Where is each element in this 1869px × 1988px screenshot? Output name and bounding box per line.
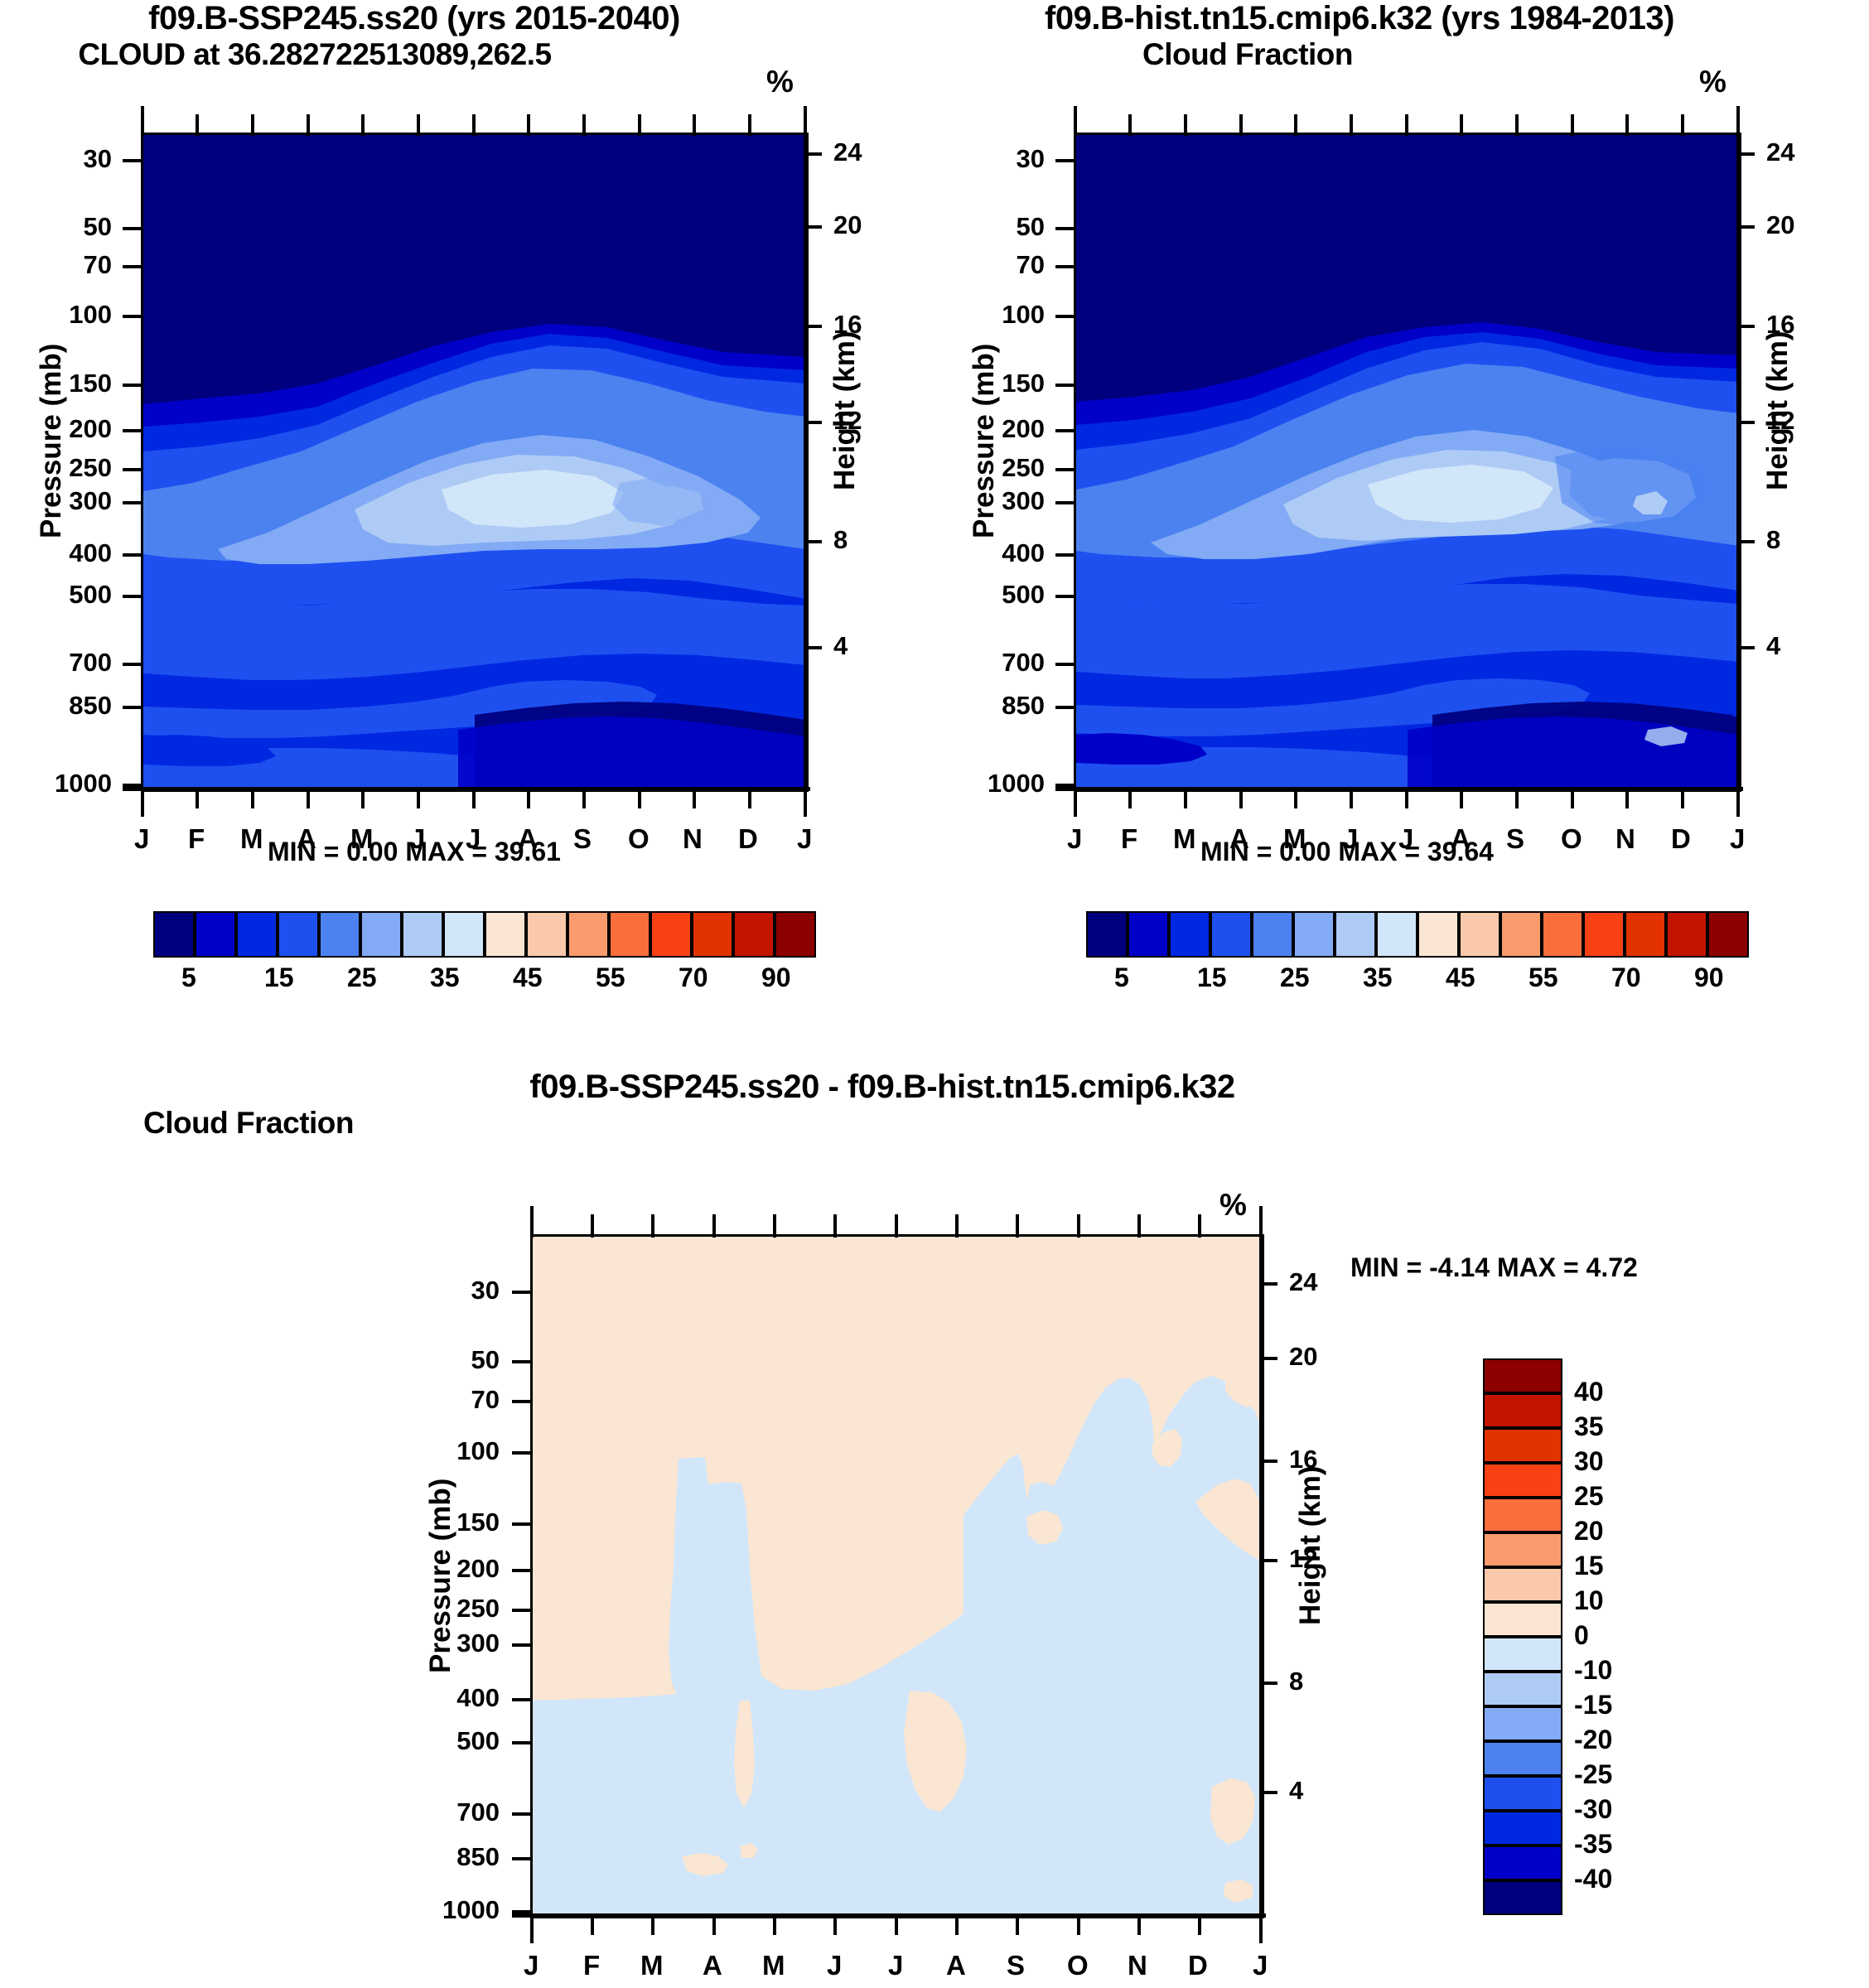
axis-tick <box>638 787 641 808</box>
y-tick <box>123 663 141 666</box>
colorbar-swatch <box>1459 911 1500 958</box>
colorbar-swatch <box>1583 911 1625 958</box>
colorbar-swatch <box>1483 1776 1562 1811</box>
y2-tick-label: 8 <box>833 525 848 555</box>
y-tick-label: 250 <box>69 453 112 483</box>
y2-tick <box>804 421 822 424</box>
left-minmax-label: MIN = 0.00 MAX = 39.61 <box>0 837 828 867</box>
colorbar-swatch <box>526 911 567 958</box>
y-tick-label: 100 <box>1002 300 1045 330</box>
y-tick-label: 30 <box>84 144 112 174</box>
y-tick <box>123 429 141 432</box>
axis-tick <box>1259 1913 1263 1943</box>
axis-tick <box>1074 787 1077 817</box>
y2-tick <box>1259 1791 1277 1794</box>
x-tick-label: O <box>1067 1950 1089 1981</box>
axis-tick <box>773 1214 776 1238</box>
y-tick-label: 200 <box>69 414 112 444</box>
colorbar-swatch <box>1707 911 1749 958</box>
y2-tick-label: 4 <box>1766 631 1780 661</box>
y-tick <box>123 468 141 471</box>
left-top-axis <box>141 101 807 134</box>
y-tick <box>123 501 141 504</box>
axis-tick <box>651 1214 654 1238</box>
colorbar-swatch <box>236 911 278 958</box>
y-tick <box>1055 429 1074 432</box>
right-colorbar-labels: 515253545557090 <box>1086 963 1749 999</box>
colorbar-label: 90 <box>761 963 791 993</box>
colorbar-swatch <box>1376 911 1417 958</box>
y-tick <box>512 1857 530 1860</box>
axis-tick <box>1681 787 1684 808</box>
y-tick <box>123 595 141 598</box>
axis-tick <box>141 787 144 817</box>
axis-tick <box>417 787 420 808</box>
y-tick <box>123 384 141 387</box>
y-tick-label: 150 <box>456 1508 500 1537</box>
axis-tick <box>141 106 144 136</box>
y2-tick <box>804 152 822 156</box>
diff-contour-svg <box>533 1237 1262 1916</box>
colorbar-label: -40 <box>1574 1864 1612 1894</box>
x-tick-label: N <box>1128 1950 1147 1981</box>
axis-tick <box>1625 114 1629 136</box>
diff-plot-area <box>530 1234 1264 1918</box>
colorbar-swatch <box>733 911 775 958</box>
colorbar-label: 35 <box>1574 1411 1604 1442</box>
y-tick <box>512 1291 530 1294</box>
y-tick-label: 850 <box>1002 691 1045 721</box>
diff-panel-subtitle: Cloud Fraction <box>0 1106 497 1141</box>
y2-tick <box>1736 152 1755 156</box>
y-tick-label: 500 <box>1002 580 1045 610</box>
y-tick <box>512 1360 530 1363</box>
colorbar-swatch <box>1483 1846 1562 1880</box>
axis-tick <box>773 1913 776 1935</box>
left-panel: f09.B-SSP245.ss20 (yrs 2015-2040) CLOUD … <box>0 0 828 1011</box>
y2-tick-label: 4 <box>1289 1776 1303 1806</box>
axis-tick <box>955 1214 959 1238</box>
diff-colorbar <box>1483 1358 1562 1915</box>
y-tick <box>512 1741 530 1744</box>
axis-tick <box>651 1913 654 1935</box>
colorbar-label: -15 <box>1574 1690 1612 1720</box>
y2-tick <box>1259 1682 1277 1685</box>
y2-tick-label: 24 <box>1289 1267 1317 1297</box>
y-tick <box>1055 501 1074 504</box>
y-tick-label: 850 <box>456 1842 500 1872</box>
y-tick <box>512 1643 530 1647</box>
colorbar-swatch <box>153 911 195 958</box>
right-colorbar <box>1086 911 1749 958</box>
axis-tick <box>693 114 696 136</box>
left-y-axis-title: Pressure (mb) <box>35 344 68 538</box>
colorbar-swatch <box>1169 911 1210 958</box>
axis-tick <box>1736 787 1740 817</box>
axis-tick <box>527 787 530 808</box>
axis-tick <box>307 114 310 136</box>
axis-tick <box>196 114 199 136</box>
axis-tick <box>955 1913 959 1935</box>
axis-tick <box>895 1913 898 1935</box>
axis-tick <box>361 114 365 136</box>
axis-tick <box>1460 787 1463 808</box>
y-tick-label: 700 <box>456 1797 500 1827</box>
colorbar-label: 55 <box>1529 963 1558 993</box>
colorbar-swatch <box>1483 1428 1562 1463</box>
y-tick-label: 400 <box>456 1683 500 1713</box>
y2-tick <box>1736 540 1755 543</box>
y2-tick <box>1259 1559 1277 1562</box>
x-axis-line <box>123 787 810 791</box>
y-tick-label: 400 <box>69 538 112 568</box>
x-tick-label: S <box>1007 1950 1025 1981</box>
colorbar-label: 40 <box>1574 1377 1604 1407</box>
axis-tick <box>895 1214 898 1238</box>
axis-tick <box>1198 1214 1201 1238</box>
y-tick-label: 70 <box>471 1385 500 1415</box>
colorbar-swatch <box>1483 1880 1562 1915</box>
x-tick-label: D <box>1188 1950 1208 1981</box>
axis-tick <box>307 787 310 808</box>
colorbar-swatch <box>1086 911 1128 958</box>
axis-tick <box>1515 787 1519 808</box>
colorbar-label: -10 <box>1574 1655 1612 1686</box>
colorbar-swatch <box>1483 1706 1562 1741</box>
colorbar-swatch <box>1252 911 1293 958</box>
left-panel-subtitle: CLOUD at 36.282722513089,262.5 <box>0 37 630 72</box>
colorbar-label: -30 <box>1574 1794 1612 1825</box>
colorbar-swatch <box>402 911 443 958</box>
y-tick-label: 30 <box>1017 144 1045 174</box>
colorbar-label: 25 <box>347 963 377 993</box>
right-y2-axis-title: Height (km) <box>1761 331 1794 491</box>
axis-tick <box>1736 106 1740 136</box>
y2-tick <box>1259 1460 1277 1463</box>
axis-tick <box>748 114 751 136</box>
colorbar-swatch <box>195 911 236 958</box>
axis-tick <box>1077 1913 1080 1935</box>
y2-tick-label: 20 <box>1766 210 1794 240</box>
axis-tick <box>1016 1214 1019 1238</box>
diff-panel-title: f09.B-SSP245.ss20 - f09.B-hist.tn15.cmip… <box>0 1069 1765 1106</box>
colorbar-swatch <box>360 911 402 958</box>
y2-tick-label: 4 <box>833 631 848 661</box>
x-tick-label: A <box>946 1950 966 1981</box>
colorbar-swatch <box>485 911 526 958</box>
axis-tick <box>1239 787 1243 808</box>
axis-tick <box>712 1913 716 1935</box>
colorbar-swatch <box>1542 911 1583 958</box>
axis-tick <box>591 1214 594 1238</box>
y-tick-label: 150 <box>69 369 112 398</box>
y2-tick <box>804 540 822 543</box>
colorbar-label: 70 <box>679 963 708 993</box>
x-tick-label: J <box>827 1950 842 1981</box>
colorbar-swatch <box>775 911 816 958</box>
axis-tick <box>1077 1214 1080 1238</box>
y-tick <box>1055 159 1074 162</box>
axis-tick <box>530 1206 534 1238</box>
colorbar-label: -35 <box>1574 1829 1612 1860</box>
y2-tick <box>1259 1282 1277 1286</box>
x-tick-label: J <box>888 1950 903 1981</box>
axis-tick <box>251 787 254 808</box>
x-tick-label: F <box>583 1950 600 1981</box>
y-tick <box>123 227 141 230</box>
y-tick <box>512 1609 530 1612</box>
axis-tick <box>1184 114 1187 136</box>
y-tick <box>512 1451 530 1455</box>
colorbar-swatch <box>1483 1463 1562 1498</box>
left-plot-area <box>141 133 809 792</box>
axis-tick <box>712 1214 716 1238</box>
y-tick-label: 200 <box>456 1554 500 1584</box>
diff-panel: f09.B-SSP245.ss20 - f09.B-hist.tn15.cmip… <box>0 1069 1869 1953</box>
y-tick <box>1055 553 1074 557</box>
y-tick-label: 500 <box>456 1726 500 1756</box>
y2-tick-label: 20 <box>833 210 862 240</box>
axis-tick <box>1515 114 1519 136</box>
left-contour-svg <box>143 135 806 789</box>
colorbar-swatch <box>1483 1532 1562 1567</box>
axis-tick <box>1571 114 1574 136</box>
axis-tick <box>1405 787 1408 808</box>
y-tick-label: 30 <box>471 1276 500 1305</box>
colorbar-swatch <box>1483 1637 1562 1672</box>
axis-tick <box>1294 787 1297 808</box>
colorbar-swatch <box>1483 1498 1562 1532</box>
diff-y-axis: 30 50 70 100 150 200 250 300 400 500 700… <box>389 1234 534 1913</box>
left-y-axis: 30 50 70 100 150 200 250 300 400 500 700… <box>0 133 145 787</box>
colorbar-swatch <box>1483 1567 1562 1602</box>
colorbar-label: 25 <box>1574 1481 1604 1512</box>
axis-tick <box>1571 787 1574 808</box>
y2-tick <box>1259 1357 1277 1360</box>
colorbar-label: 15 <box>264 963 294 993</box>
y-tick <box>1055 315 1074 318</box>
right-panel-title: f09.B-hist.tn15.cmip6.k32 (yrs 1984-2013… <box>933 0 1786 37</box>
y2-tick-label: 8 <box>1766 525 1780 555</box>
axis-tick <box>1184 787 1187 808</box>
right-plot-area <box>1074 133 1741 792</box>
y-tick <box>512 1698 530 1701</box>
x-tick-label: J <box>524 1950 538 1981</box>
axis-tick <box>1625 787 1629 808</box>
colorbar-label: 70 <box>1611 963 1641 993</box>
y-tick <box>123 553 141 557</box>
y-tick-label: 150 <box>1002 369 1045 398</box>
colorbar-swatch <box>1293 911 1335 958</box>
left-colorbar-labels: 515253545557090 <box>153 963 816 999</box>
right-y-axis-title: Pressure (mb) <box>968 344 1001 538</box>
y-tick-label: 300 <box>456 1629 500 1658</box>
y-tick-label: 200 <box>1002 414 1045 444</box>
x-tick-label: A <box>703 1950 722 1981</box>
right-minmax-label: MIN = 0.00 MAX = 39.64 <box>933 837 1761 867</box>
y-tick-label: 50 <box>1017 212 1045 242</box>
right-panel: f09.B-hist.tn15.cmip6.k32 (yrs 1984-2013… <box>933 0 1761 1011</box>
y2-tick-label: 24 <box>833 138 862 167</box>
axis-tick <box>251 114 254 136</box>
axis-tick <box>1350 114 1353 136</box>
colorbar-label: 35 <box>430 963 460 993</box>
colorbar-label: 25 <box>1280 963 1310 993</box>
colorbar-label: 0 <box>1574 1620 1589 1651</box>
axis-tick <box>1074 106 1077 136</box>
left-panel-unit: % <box>766 65 794 99</box>
y2-tick <box>804 646 822 649</box>
y-tick <box>512 1400 530 1403</box>
axis-tick <box>472 114 476 136</box>
y-tick-label: 50 <box>84 212 112 242</box>
y-tick-label: 100 <box>69 300 112 330</box>
y-tick-label: 850 <box>69 691 112 721</box>
y2-tick-label: 20 <box>1289 1342 1317 1372</box>
colorbar-swatch <box>567 911 609 958</box>
axis-tick <box>582 787 586 808</box>
y2-tick <box>1736 225 1755 229</box>
right-top-axis <box>1074 101 1740 134</box>
diff-y-axis-title: Pressure (mb) <box>424 1479 457 1673</box>
colorbar-swatch <box>609 911 650 958</box>
y-tick-label: 50 <box>471 1345 500 1375</box>
axis-tick <box>693 787 696 808</box>
diff-colorbar-labels: 403530252015100-10-15-20-25-30-35-40 <box>1574 1358 1682 1915</box>
colorbar-label: -20 <box>1574 1725 1612 1755</box>
y-tick <box>512 1569 530 1572</box>
colorbar-label: 45 <box>1446 963 1475 993</box>
colorbar-label: 35 <box>1363 963 1393 993</box>
x-axis-line <box>1055 787 1743 791</box>
axis-tick <box>804 106 807 136</box>
colorbar-label: 30 <box>1574 1446 1604 1477</box>
colorbar-label: -25 <box>1574 1759 1612 1790</box>
colorbar-label: 10 <box>1574 1585 1604 1616</box>
colorbar-label: 5 <box>181 963 196 993</box>
axis-tick <box>1137 1913 1141 1935</box>
axis-tick <box>804 787 807 817</box>
y2-tick <box>1736 646 1755 649</box>
y2-tick <box>1736 421 1755 424</box>
y2-tick-label: 24 <box>1766 138 1794 167</box>
y-tick <box>1055 227 1074 230</box>
diff-x-axis: J F M A M J J A S O N D J <box>530 1913 1263 1988</box>
y-tick <box>1055 265 1074 268</box>
colorbar-label: 55 <box>596 963 625 993</box>
axis-tick <box>196 787 199 808</box>
y-tick <box>123 265 141 268</box>
colorbar-swatch <box>1625 911 1666 958</box>
axis-tick <box>1137 1214 1141 1238</box>
colorbar-label: 45 <box>513 963 543 993</box>
y-tick <box>512 1522 530 1526</box>
colorbar-swatch <box>1210 911 1252 958</box>
colorbar-swatch <box>1128 911 1169 958</box>
right-contour-svg <box>1076 135 1739 789</box>
y-tick-label: 250 <box>456 1594 500 1624</box>
y-tick <box>1055 595 1074 598</box>
y-tick-label: 300 <box>69 486 112 516</box>
axis-tick <box>527 114 530 136</box>
diff-minmax-label: MIN = -4.14 MAX = 4.72 <box>1350 1252 1638 1283</box>
colorbar-swatch <box>650 911 692 958</box>
axis-tick <box>1128 114 1132 136</box>
y2-tick <box>804 325 822 328</box>
colorbar-label: 90 <box>1694 963 1724 993</box>
diff-top-axis <box>530 1203 1263 1236</box>
y-tick-label: 400 <box>1002 538 1045 568</box>
x-axis-line <box>512 1913 1266 1918</box>
colorbar-swatch <box>443 911 485 958</box>
colorbar-swatch <box>1666 911 1707 958</box>
x-tick-label: J <box>1253 1950 1268 1981</box>
axis-tick <box>1198 1913 1201 1935</box>
axis-tick <box>591 1913 594 1935</box>
x-tick-label: M <box>762 1950 785 1981</box>
axis-tick <box>1259 1206 1263 1238</box>
axis-tick <box>582 114 586 136</box>
colorbar-label: 15 <box>1574 1551 1604 1581</box>
axis-tick <box>1681 114 1684 136</box>
y-tick-label: 500 <box>69 580 112 610</box>
axis-tick <box>1460 114 1463 136</box>
y2-tick <box>804 225 822 229</box>
axis-tick <box>472 787 476 808</box>
colorbar-swatch <box>1335 911 1376 958</box>
left-y2-axis-title: Height (km) <box>828 331 862 491</box>
y-tick-label: 100 <box>456 1436 500 1466</box>
y-tick-label: 70 <box>1017 250 1045 280</box>
y-tick <box>512 1812 530 1816</box>
y-tick-label: 700 <box>1002 648 1045 678</box>
colorbar-swatch <box>1483 1358 1562 1393</box>
y-tick-label: 70 <box>84 250 112 280</box>
axis-tick <box>1405 114 1408 136</box>
colorbar-label: 5 <box>1114 963 1129 993</box>
y-tick <box>1055 706 1074 709</box>
colorbar-label: 20 <box>1574 1516 1604 1546</box>
y-tick <box>1055 663 1074 666</box>
colorbar-swatch <box>692 911 733 958</box>
axis-tick <box>530 1913 534 1943</box>
left-panel-title: f09.B-SSP245.ss20 (yrs 2015-2040) <box>0 0 828 37</box>
colorbar-swatch <box>1483 1393 1562 1428</box>
left-colorbar <box>153 911 816 958</box>
axis-tick <box>361 787 365 808</box>
y2-tick <box>1736 325 1755 328</box>
y-tick <box>123 706 141 709</box>
y-tick <box>123 315 141 318</box>
y-tick-label: 1000 <box>55 769 112 799</box>
colorbar-swatch <box>1483 1811 1562 1846</box>
axis-tick <box>748 787 751 808</box>
colorbar-swatch <box>1483 1741 1562 1776</box>
y-tick-label: 1000 <box>988 769 1045 799</box>
axis-tick <box>417 114 420 136</box>
y-tick-label: 1000 <box>442 1895 500 1925</box>
diff-y2-axis-title: Height (km) <box>1294 1466 1327 1626</box>
y-tick-label: 700 <box>69 648 112 678</box>
y2-axis-line <box>1259 1229 1263 1918</box>
colorbar-swatch <box>1483 1602 1562 1637</box>
axis-tick <box>1016 1913 1019 1935</box>
y-tick <box>1055 384 1074 387</box>
right-y-axis: 30 50 70 100 150 200 250 300 400 500 700… <box>933 133 1078 787</box>
right-panel-subtitle: Cloud Fraction <box>933 37 1562 72</box>
axis-tick <box>1350 787 1353 808</box>
y-tick <box>1055 468 1074 471</box>
